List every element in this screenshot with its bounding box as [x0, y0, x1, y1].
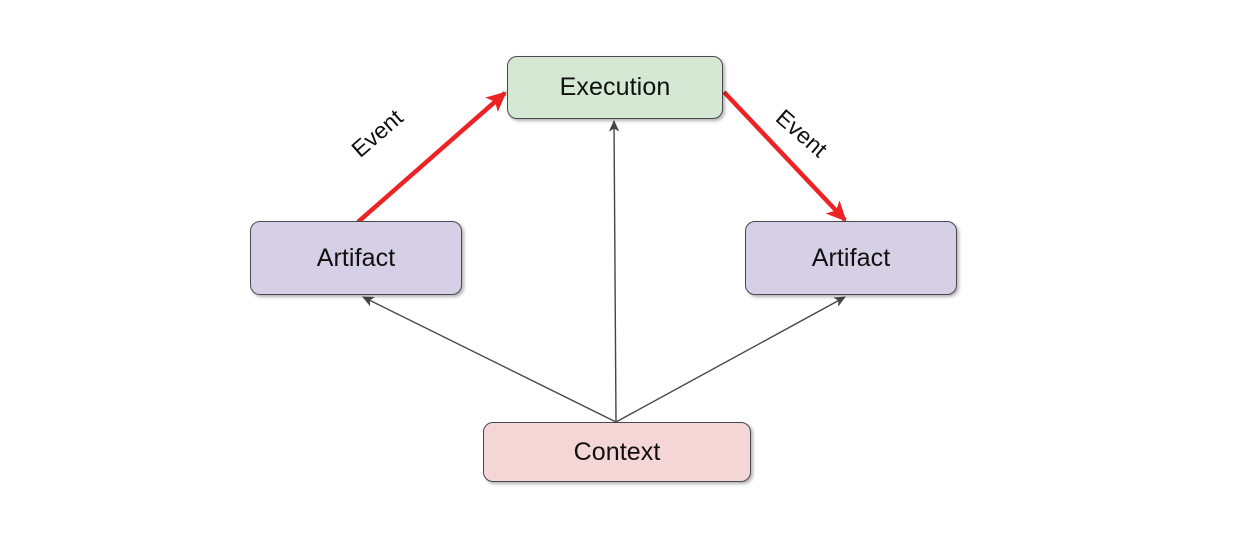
edge-context-to-artifact-right — [616, 297, 845, 422]
node-artifact-right[interactable]: Artifact — [745, 221, 957, 295]
node-artifact-left-label: Artifact — [317, 246, 396, 271]
edge-context-to-execution — [614, 121, 616, 422]
diagram-canvas: Execution Artifact Artifact Context Even… — [0, 0, 1236, 542]
node-artifact-right-label: Artifact — [812, 246, 891, 271]
node-artifact-left[interactable]: Artifact — [250, 221, 462, 295]
edge-context-to-artifact-left — [363, 297, 616, 422]
node-execution-label: Execution — [560, 75, 671, 100]
node-context-label: Context — [574, 440, 661, 465]
node-context[interactable]: Context — [483, 422, 751, 482]
node-execution[interactable]: Execution — [507, 56, 723, 119]
